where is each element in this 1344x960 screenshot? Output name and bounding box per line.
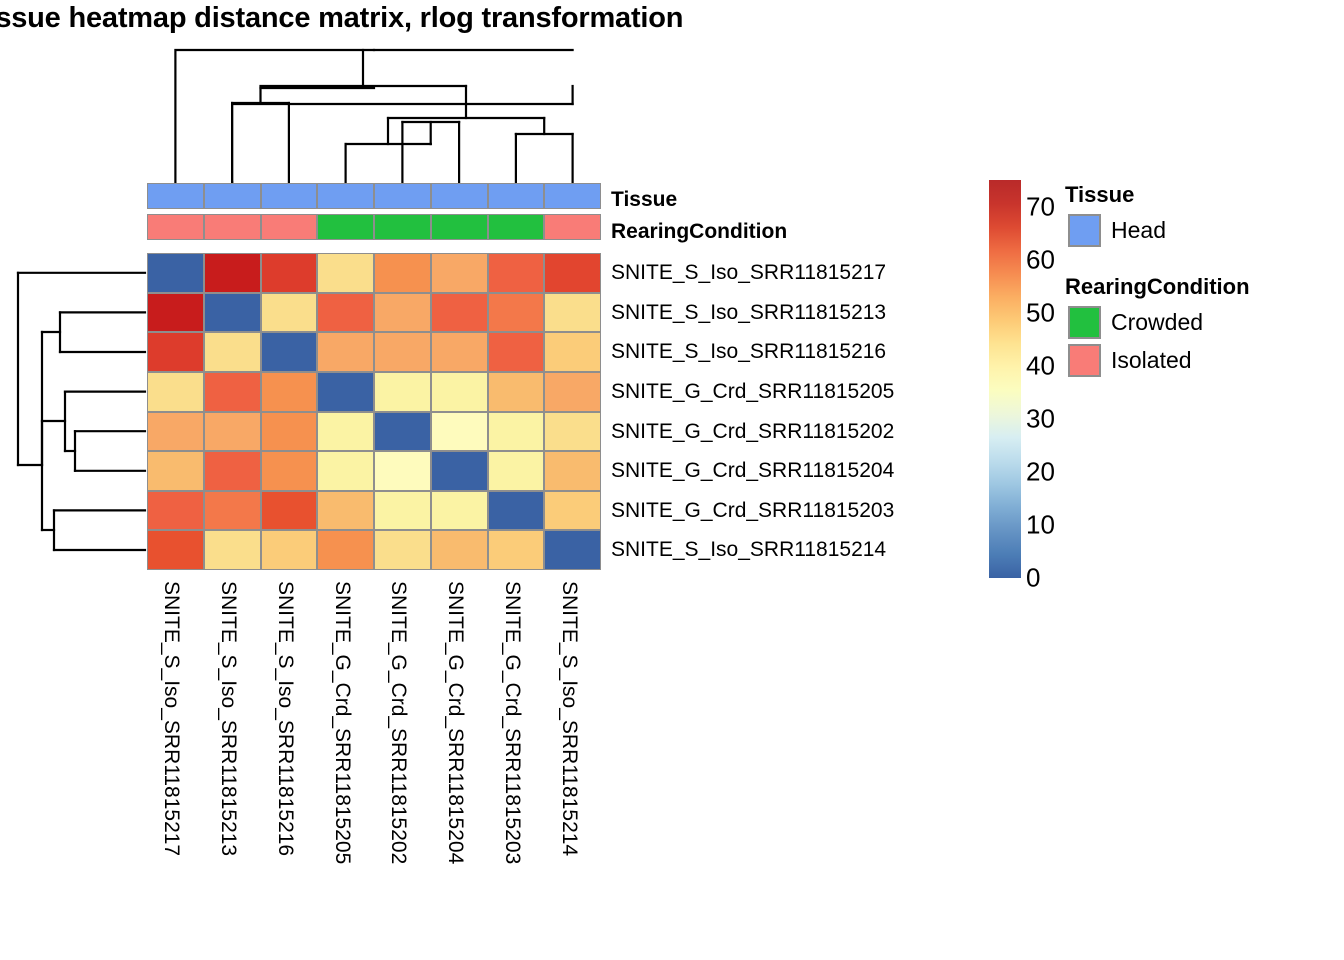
heatmap-cell <box>317 253 374 293</box>
heatmap-cell <box>147 293 204 333</box>
colorbar-tick-label: 0 <box>1026 563 1040 594</box>
heatmap-cell <box>204 451 261 491</box>
heatmap-cell <box>147 451 204 491</box>
annotation-label-rearing-condition: RearingCondition <box>611 220 787 244</box>
heatmap-cell <box>261 332 318 372</box>
annotation-cell-tissue <box>544 183 601 209</box>
heatmap-cell <box>374 491 431 531</box>
heatmap-cell <box>147 530 204 570</box>
heatmap-cell <box>374 293 431 333</box>
heatmap-cell <box>374 530 431 570</box>
annotation-cell-tissue <box>374 183 431 209</box>
heatmap-cell <box>204 253 261 293</box>
heatmap-cell <box>544 253 601 293</box>
heatmap-cell <box>374 372 431 412</box>
legend-swatch <box>1068 306 1101 339</box>
annotation-cell-tissue <box>204 183 261 209</box>
colorbar-tick-label: 50 <box>1026 297 1055 328</box>
heatmap-cell <box>261 530 318 570</box>
heatmap-cell <box>204 332 261 372</box>
column-label: SNITE_S_Iso_SRR11815216 <box>273 581 297 856</box>
annotation-cell-rearing-condition <box>317 214 374 240</box>
heatmap-cell <box>147 491 204 531</box>
heatmap-cell <box>204 293 261 333</box>
heatmap-cell <box>544 293 601 333</box>
heatmap-cell <box>147 253 204 293</box>
heatmap-grid <box>147 253 601 570</box>
column-label: SNITE_G_Crd_SRR11815205 <box>330 581 354 864</box>
row-label: SNITE_G_Crd_SRR11815203 <box>611 491 894 531</box>
legend-title: Tissue <box>1065 182 1134 208</box>
heatmap-cell <box>261 253 318 293</box>
heatmap-cell <box>431 412 488 452</box>
heatmap-cell <box>317 332 374 372</box>
legend-item-label: Isolated <box>1111 344 1192 377</box>
legend-item-label: Head <box>1111 214 1166 247</box>
heatmap-cell <box>317 530 374 570</box>
colorbar-gradient <box>989 180 1021 578</box>
heatmap-cell <box>488 372 545 412</box>
colorbar-tick-label: 70 <box>1026 191 1055 222</box>
colorbar-tick-label: 10 <box>1026 509 1055 540</box>
heatmap-cell <box>431 530 488 570</box>
annotation-bar-tissue <box>147 183 601 209</box>
heatmap-cell <box>431 293 488 333</box>
row-label: SNITE_G_Crd_SRR11815205 <box>611 372 894 412</box>
row-label: SNITE_S_Iso_SRR11815214 <box>611 530 886 570</box>
heatmap-cell <box>261 451 318 491</box>
column-dendrogram <box>147 42 601 182</box>
heatmap-cell <box>374 451 431 491</box>
heatmap-cell <box>431 253 488 293</box>
heatmap-cell <box>317 491 374 531</box>
column-label: SNITE_G_Crd_SRR11815204 <box>443 581 467 864</box>
row-label: SNITE_G_Crd_SRR11815204 <box>611 451 894 491</box>
heatmap-cell <box>374 253 431 293</box>
heatmap-cell <box>431 491 488 531</box>
heatmap-cell <box>374 332 431 372</box>
annotation-cell-tissue <box>261 183 318 209</box>
annotation-cell-rearing-condition <box>374 214 431 240</box>
heatmap-cell <box>374 412 431 452</box>
annotation-cell-tissue <box>488 183 545 209</box>
annotation-cell-rearing-condition <box>544 214 601 240</box>
heatmap-cell <box>261 372 318 412</box>
column-label: SNITE_G_Crd_SRR11815202 <box>386 581 410 864</box>
row-label: SNITE_G_Crd_SRR11815202 <box>611 412 894 452</box>
heatmap-cell <box>488 332 545 372</box>
heatmap-cell <box>147 372 204 412</box>
heatmap-cell <box>431 451 488 491</box>
legend-swatch <box>1068 344 1101 377</box>
heatmap-cell <box>488 451 545 491</box>
heatmap-cell <box>261 491 318 531</box>
heatmap-cell <box>204 491 261 531</box>
heatmap-cell <box>317 412 374 452</box>
annotation-cell-tissue <box>431 183 488 209</box>
heatmap-cell <box>488 412 545 452</box>
page-title: tissue heatmap distance matrix, rlog tra… <box>0 2 683 35</box>
heatmap-cell <box>544 332 601 372</box>
colorbar-tick-label: 40 <box>1026 350 1055 381</box>
annotation-cell-rearing-condition <box>431 214 488 240</box>
colorbar-tick-label: 30 <box>1026 403 1055 434</box>
heatmap-cell <box>147 332 204 372</box>
annotation-cell-tissue <box>147 183 204 209</box>
heatmap-cell <box>544 491 601 531</box>
annotation-cell-rearing-condition <box>488 214 545 240</box>
heatmap-cell <box>317 293 374 333</box>
annotation-label-tissue: Tissue <box>611 188 677 212</box>
annotation-cell-rearing-condition <box>204 214 261 240</box>
row-label: SNITE_S_Iso_SRR11815217 <box>611 253 886 293</box>
annotation-bar-rearing-condition <box>147 214 601 240</box>
row-label: SNITE_S_Iso_SRR11815213 <box>611 293 886 333</box>
heatmap-cell <box>488 253 545 293</box>
heatmap-cell <box>204 412 261 452</box>
annotation-cell-tissue <box>317 183 374 209</box>
heatmap-cell <box>147 412 204 452</box>
heatmap-cell <box>204 530 261 570</box>
row-label: SNITE_S_Iso_SRR11815216 <box>611 332 886 372</box>
colorbar-tick-label: 20 <box>1026 456 1055 487</box>
heatmap-cell <box>544 451 601 491</box>
heatmap-cell <box>544 412 601 452</box>
heatmap-cell <box>261 412 318 452</box>
heatmap-cell <box>261 293 318 333</box>
column-label: SNITE_S_Iso_SRR11815214 <box>557 581 581 856</box>
heatmap-cell <box>431 332 488 372</box>
column-label: SNITE_S_Iso_SRR11815217 <box>159 581 183 856</box>
annotation-cell-rearing-condition <box>147 214 204 240</box>
annotation-cell-rearing-condition <box>261 214 318 240</box>
heatmap-cell <box>488 293 545 333</box>
legend-title: RearingCondition <box>1065 274 1250 300</box>
legend-item-label: Crowded <box>1111 306 1203 339</box>
heatmap-cell <box>431 372 488 412</box>
heatmap-cell <box>317 372 374 412</box>
heatmap-cell <box>204 372 261 412</box>
heatmap-cell <box>488 530 545 570</box>
heatmap-cell <box>544 372 601 412</box>
colorbar-tick-label: 60 <box>1026 244 1055 275</box>
column-label: SNITE_G_Crd_SRR11815203 <box>500 581 524 864</box>
row-dendrogram <box>2 253 145 570</box>
column-label: SNITE_S_Iso_SRR11815213 <box>216 581 240 856</box>
heatmap-cell <box>544 530 601 570</box>
heatmap-cell <box>488 491 545 531</box>
legend-swatch <box>1068 214 1101 247</box>
heatmap-figure: tissue heatmap distance matrix, rlog tra… <box>0 0 1344 960</box>
heatmap-cell <box>317 451 374 491</box>
